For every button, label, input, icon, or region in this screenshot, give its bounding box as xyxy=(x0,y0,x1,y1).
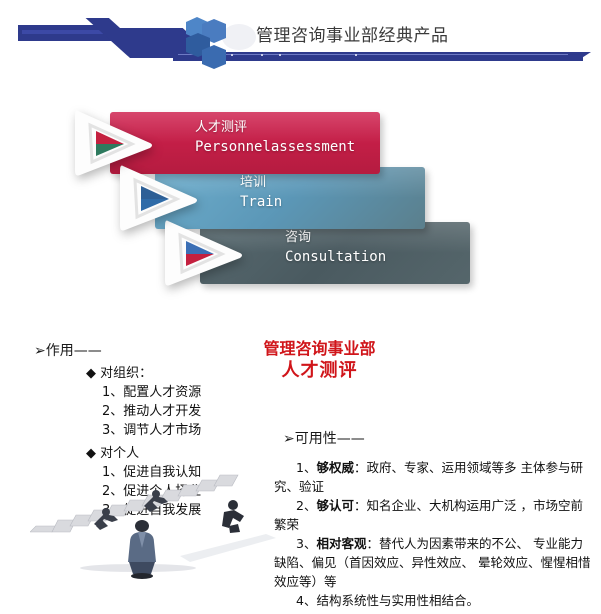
banner-consultation-label-en: Consultation xyxy=(285,247,386,267)
page-header: 管理咨询事业部经典产品 xyxy=(0,0,601,76)
list-item-number: 4、 xyxy=(296,593,316,608)
banner-personnel-assessment-label-cn: 人才测评 xyxy=(195,119,355,137)
product-banner-group: 咨询 Consultation 培训 Train 人才测评 Personnela… xyxy=(0,95,601,310)
banner-consultation-text: 咨询 Consultation xyxy=(285,229,386,267)
list-item: 3、相对客观：替代人为因素带来的不公、 专业能力缺陷、偏见（首因效应、异性效应、… xyxy=(274,534,594,591)
banner-consultation-label-cn: 咨询 xyxy=(285,229,386,247)
banner-personnel-assessment-label-en: Personnelassessment xyxy=(195,137,355,157)
banner-train-label-cn: 培训 xyxy=(240,174,282,192)
banner-personnel-assessment-text: 人才测评 Personnelassessment xyxy=(195,119,355,157)
people-climbing-stairs-illustration xyxy=(30,470,295,600)
list-item: 1、够权威：政府、专家、运用领域等多 主体参与研究、验证 xyxy=(274,458,594,496)
right-column-lead: ➢可用性—— xyxy=(283,428,365,448)
list-item: 3、调节人才市场 xyxy=(102,421,300,440)
page-title: 管理咨询事业部经典产品 xyxy=(256,21,449,46)
right-column: 管理咨询事业部 人才测评 ➢可用性—— 1、够权威：政府、专家、运用领域等多 主… xyxy=(232,330,601,382)
list-item: 4、结构系统性与实用性相结合。 xyxy=(274,591,594,610)
hexagon-cluster-icon xyxy=(186,18,242,60)
banner-train-text: 培训 Train xyxy=(240,174,282,212)
list-item: 2、够认可：知名企业、大机构运用广泛 ，市场空前繁荣 xyxy=(274,496,594,534)
right-column-title: 管理咨询事业部 人才测评 xyxy=(232,338,407,382)
header-ribbon-bottom-tip xyxy=(577,52,591,61)
list-item-number: 2、 xyxy=(296,498,316,513)
right-column-title-line2: 人才测评 xyxy=(232,360,407,382)
list-item-number: 3、 xyxy=(296,536,316,551)
list-item-label: 相对客观 xyxy=(316,536,366,551)
list-item-label: 够权威 xyxy=(316,460,354,475)
list-item: 2、推动人才开发 xyxy=(102,402,300,421)
content-area: ➢作用—— ◆ 对组织： 1、配置人才资源 2、推动人才开发 3、调节人才市场 … xyxy=(0,330,601,614)
play-triangle-icon-personnel-assessment[interactable] xyxy=(72,103,156,181)
list-item-number: 1、 xyxy=(296,460,316,475)
right-column-title-line1: 管理咨询事业部 xyxy=(232,338,407,360)
list-item-text: 结构系统性与实用性相结合。 xyxy=(316,593,479,608)
availability-list: 1、够权威：政府、专家、运用领域等多 主体参与研究、验证 2、够认可：知名企业、… xyxy=(274,458,594,610)
header-dot-row xyxy=(205,53,465,58)
list-item: 1、配置人才资源 xyxy=(102,383,300,402)
group-individual-heading: ◆ 对个人 xyxy=(86,444,300,463)
banner-train-label-en: Train xyxy=(240,192,282,212)
list-item-label: 够认可 xyxy=(316,498,354,513)
